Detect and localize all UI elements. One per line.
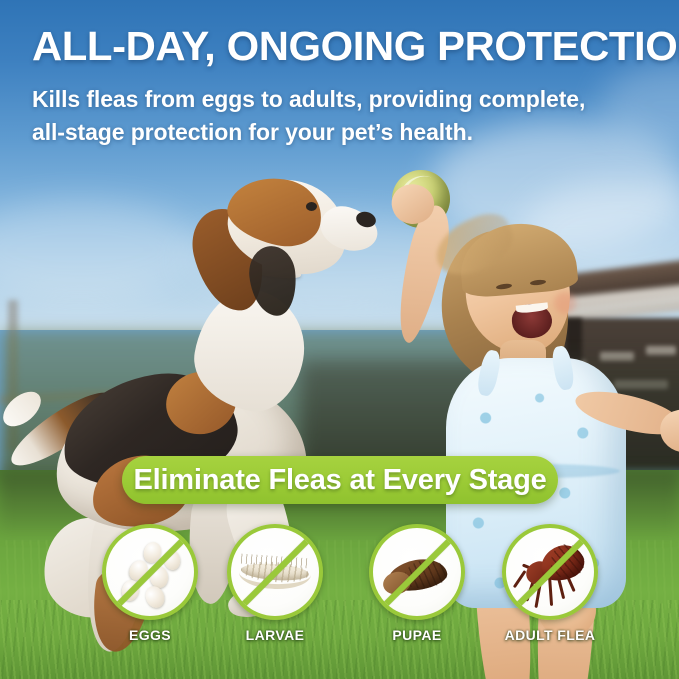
stage-eggs: EGGS (96, 524, 204, 643)
flea-lifecycle-stages: EGGS LARVAE PUPAE (0, 524, 679, 650)
subheadline-line-1: Kills fleas from eggs to adults, providi… (32, 86, 585, 112)
flea-eggs-icon (102, 524, 198, 620)
stage-label-adult-flea: ADULT FLEA (496, 627, 604, 643)
stage-label-eggs: EGGS (96, 627, 204, 643)
flea-protection-advertisement: ALL-DAY, ONGOING PROTECTION Kills fleas … (0, 0, 679, 679)
subheadline: Kills fleas from eggs to adults, providi… (32, 83, 632, 148)
stage-label-pupae: PUPAE (363, 627, 471, 643)
flea-leg (513, 570, 527, 588)
adult-flea-icon (502, 524, 598, 620)
flea-pupa-icon (369, 524, 465, 620)
flea-larva-icon (227, 524, 323, 620)
subheadline-line-2: all-stage protection for your pet’s heal… (32, 116, 632, 149)
stage-larvae: LARVAE (221, 524, 329, 643)
stage-pupae: PUPAE (363, 524, 471, 643)
stage-label-larvae: LARVAE (221, 627, 329, 643)
egg-shape (143, 583, 168, 610)
eliminate-fleas-banner: Eliminate Fleas at Every Stage (122, 456, 558, 504)
headline: ALL-DAY, ONGOING PROTECTION (32, 24, 664, 68)
stage-adult-flea: ADULT FLEA (496, 524, 604, 643)
banner-label: Eliminate Fleas at Every Stage (133, 464, 546, 497)
girl-cheek (554, 292, 576, 314)
dog-eye (306, 202, 317, 211)
